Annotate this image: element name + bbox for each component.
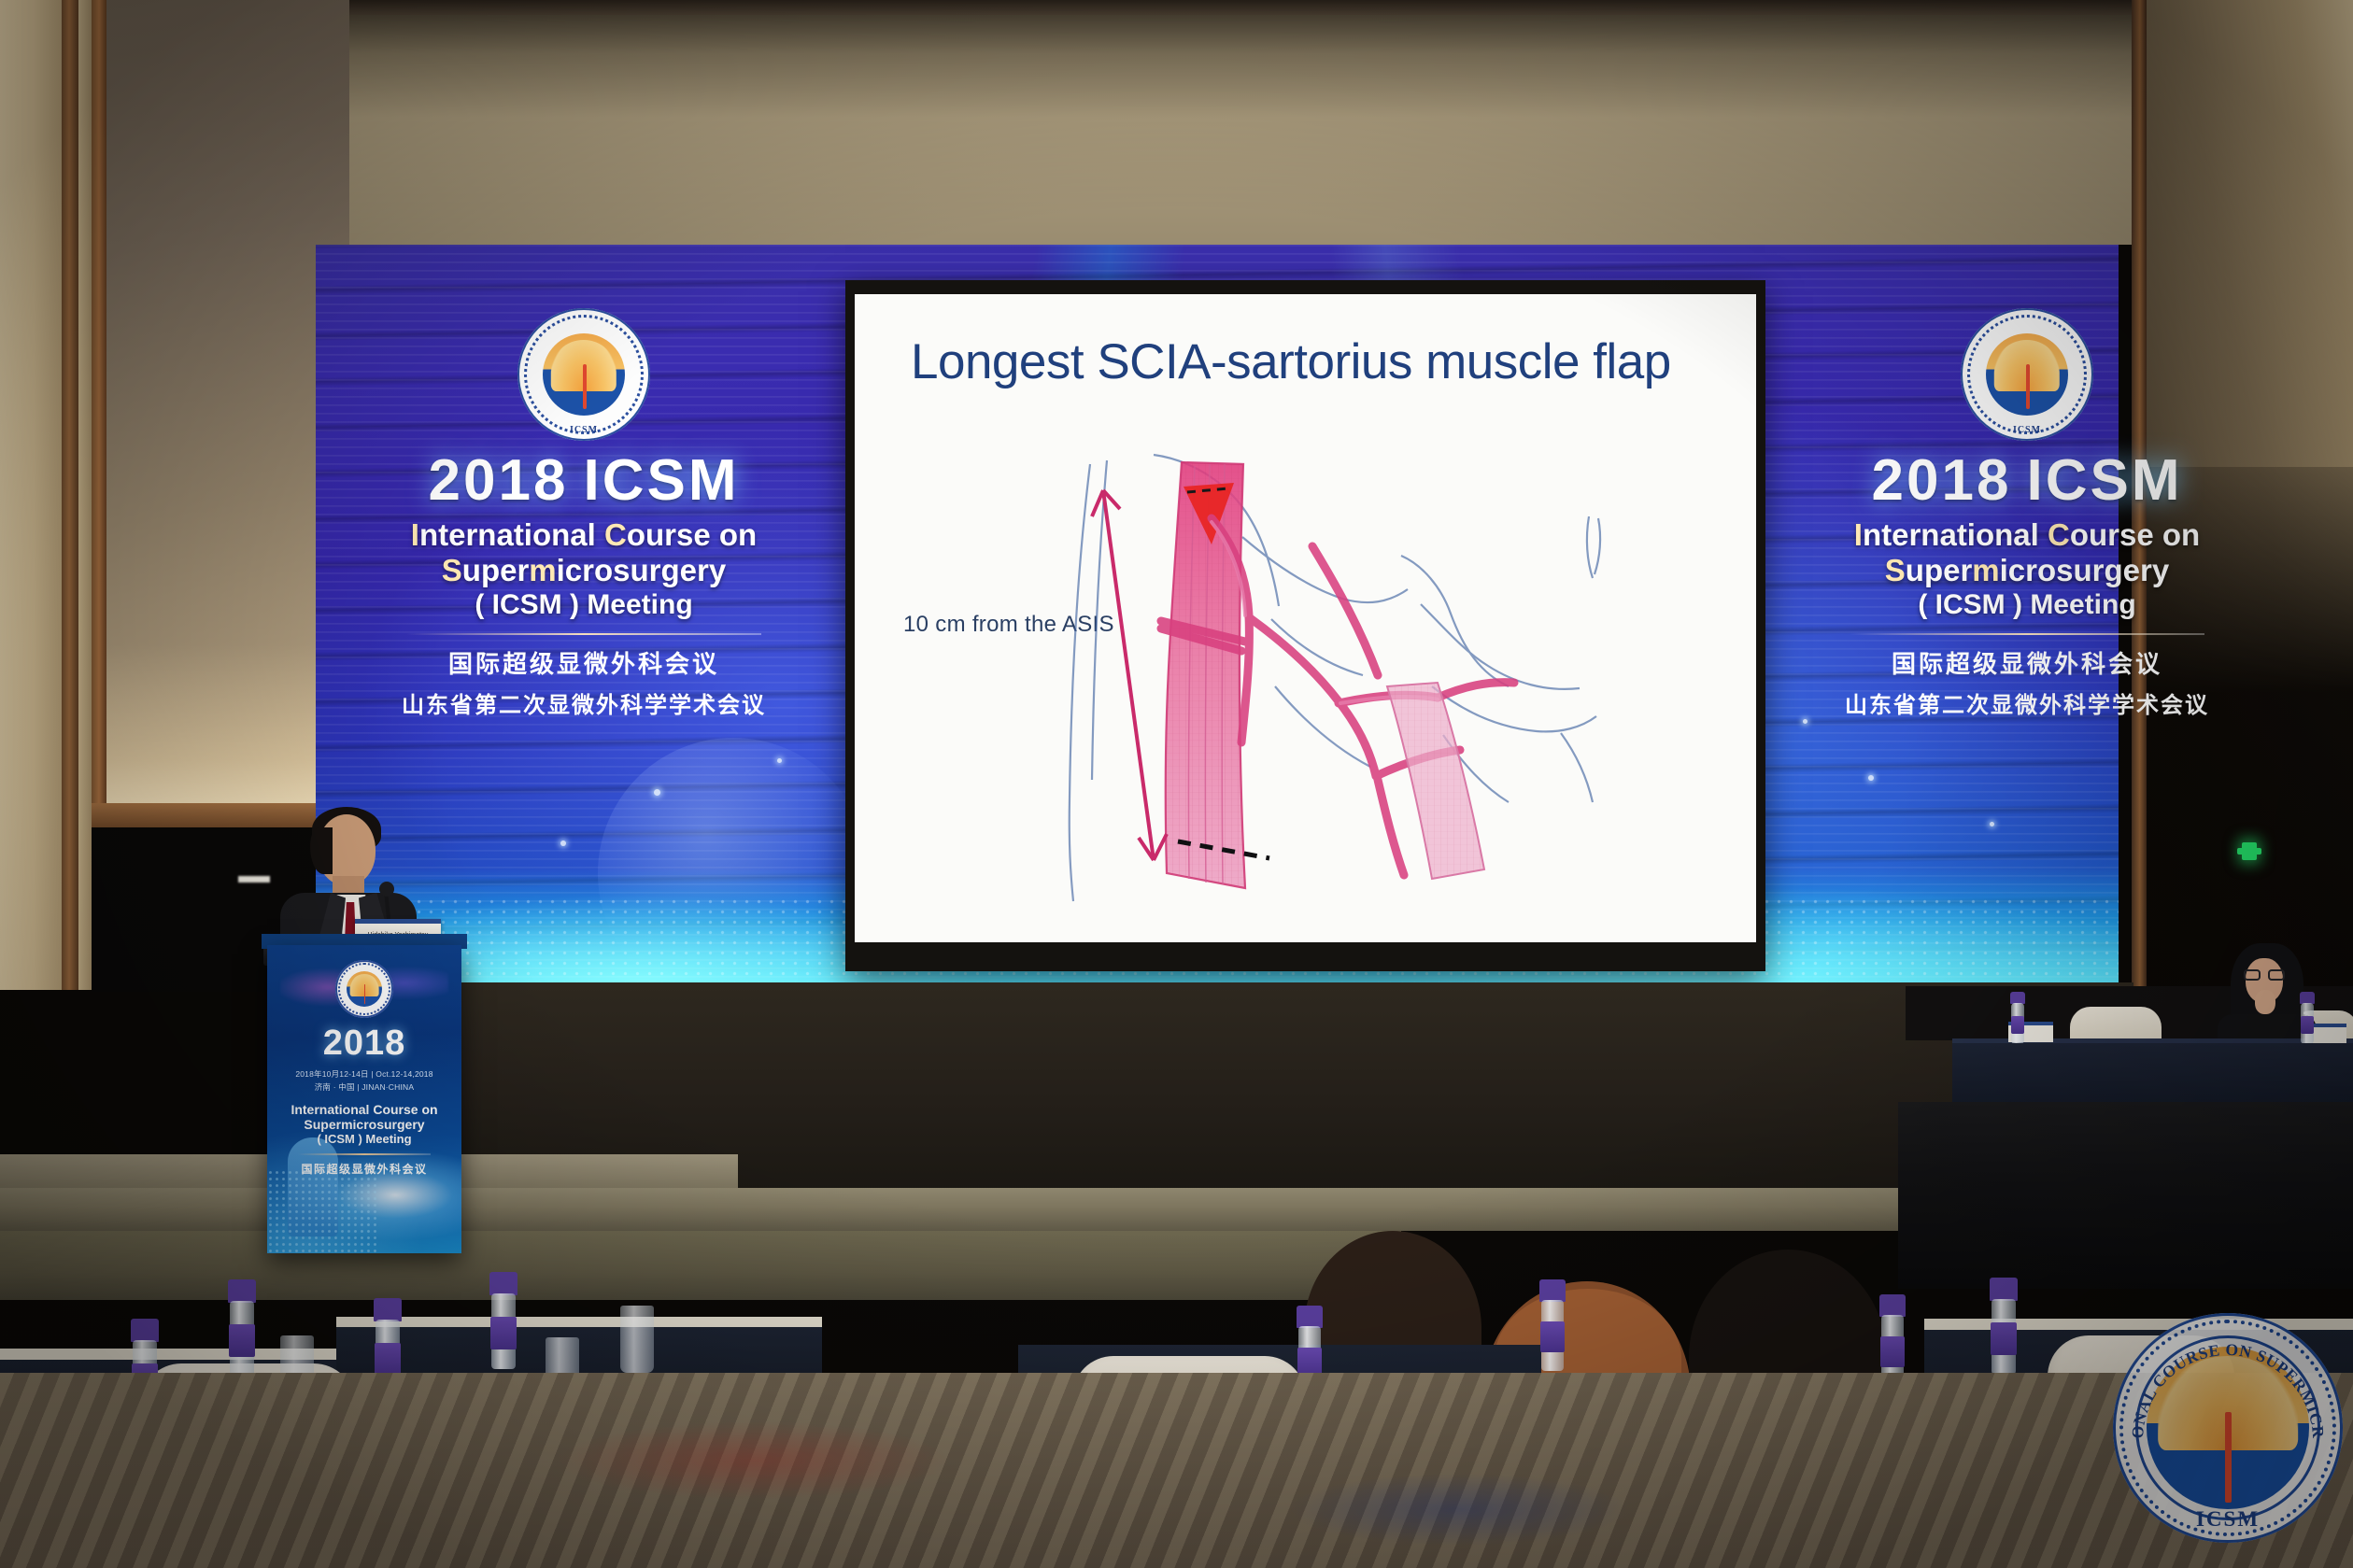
left-banner-year-acronym: 2018ICSM [332, 452, 836, 510]
left-banner-line3: ( ICSM ) Meeting [332, 589, 836, 622]
led-sparkle [654, 789, 660, 796]
slide-title: Longest SCIA-sartorius muscle flap [911, 333, 1714, 390]
svg-text:INTERNATIONAL COURSE ON SUPERM: INTERNATIONAL COURSE ON SUPERMICROSURGER… [2113, 1313, 2328, 1439]
podium-year: 2018 [267, 1024, 461, 1064]
left-banner-line2: Supermicrosurgery [332, 553, 836, 588]
podium-divider [298, 1153, 431, 1155]
flap-length-arrow [1092, 490, 1167, 860]
icsm-seal-icon: ICSM [517, 308, 650, 441]
led-sparkle [560, 841, 566, 846]
water-bottle [1539, 1279, 1566, 1371]
watermark-bottom-text: ICSM [2113, 1507, 2343, 1532]
led-sparkle [1990, 822, 1994, 826]
right-banner-chinese1: 国际超级显微外科会议 [1775, 645, 2279, 680]
podium-place-line: 济南 · 中国 | JINAN·CHINA [267, 1081, 461, 1093]
left-wall-panel [0, 0, 62, 990]
icsm-watermark-logo: INTERNATIONAL COURSE ON SUPERMICROSURGER… [2113, 1313, 2343, 1543]
ceiling-strip [0, 0, 2353, 15]
left-banner-logo-wrap: ICSM [332, 308, 836, 441]
led-sparkle [1868, 775, 1874, 781]
emergency-exit-icon [2242, 842, 2257, 860]
right-banner-year-acronym: 2018ICSM [1775, 452, 2279, 510]
sartorius-flap-illustration [1042, 406, 1621, 929]
podium-date-line: 2018年10月12-14日 | Oct.12-14,2018 [267, 1068, 461, 1080]
right-banner-line3: ( ICSM ) Meeting [1775, 589, 2279, 622]
water-bottle [2010, 992, 2025, 1044]
glasses-icon [2244, 969, 2285, 981]
left-wall-led-light [238, 876, 270, 883]
carpet-floor [0, 1373, 2353, 1568]
banner-acronym-text: ICSM [2026, 448, 2182, 513]
stage-step [0, 1231, 1401, 1300]
drinking-glass [620, 1306, 654, 1373]
water-bottle [489, 1272, 517, 1369]
led-sparkle [1803, 719, 1807, 724]
left-wall-uplight-glow [106, 644, 349, 805]
panelist-hand [2255, 990, 2275, 1014]
banner-acronym-text: ICSM [583, 448, 739, 513]
seal-bottom-text: ICSM [1961, 425, 2093, 435]
left-backdrop-banner: ICSM 2018ICSM International Course on Su… [332, 308, 836, 719]
water-bottle [228, 1279, 256, 1377]
left-banner-chinese1: 国际超级显微外科会议 [332, 645, 836, 680]
podium-sign-content: 2018 2018年10月12-14日 | Oct.12-14,2018 济南 … [267, 945, 461, 1253]
presentation-slide: Longest SCIA-sartorius muscle flap 10 cm… [855, 294, 1756, 942]
left-banner-chinese2: 山东省第二次显微外科学学术会议 [332, 686, 836, 719]
conference-photo-scene: ICSM 2018ICSM International Course on Su… [0, 0, 2353, 1568]
right-banner-divider [1850, 633, 2204, 635]
podium-line2: Supermicrosurgery [267, 1117, 461, 1132]
left-wall-wood-trim [62, 0, 78, 990]
left-banner-line1: International Course on [332, 517, 836, 553]
back-wall-shading [0, 0, 2353, 245]
right-banner-logo-wrap: ICSM [1775, 308, 2279, 441]
left-banner-divider [406, 633, 761, 635]
left-wall-trim-light [78, 0, 92, 990]
right-banner-line2: Supermicrosurgery [1775, 553, 2279, 588]
water-bottle [1990, 1278, 2018, 1375]
banner-year-text: 2018 [429, 448, 569, 513]
banquet-table-top [336, 1317, 822, 1327]
icsm-seal-icon: ICSM [1961, 308, 2093, 441]
left-wall-sill [92, 803, 349, 827]
seal-bottom-text: ICSM [517, 425, 650, 435]
panel-stage-platform [1898, 1102, 2353, 1289]
podium-line3: ( ICSM ) Meeting [267, 1132, 461, 1146]
led-sparkle [777, 758, 782, 763]
icsm-seal-icon [335, 960, 393, 1018]
podium-chinese: 国际超级显微外科会议 [267, 1161, 461, 1177]
right-backdrop-banner: ICSM 2018ICSM International Course on Su… [1775, 308, 2279, 719]
banner-year-text: 2018 [1872, 448, 2012, 513]
podium-line1: International Course on [267, 1102, 461, 1117]
water-bottle [2300, 992, 2315, 1044]
left-wall-frame [92, 0, 106, 803]
right-banner-line1: International Course on [1775, 517, 2279, 553]
right-banner-chinese2: 山东省第二次显微外科学学术会议 [1775, 686, 2279, 719]
microphone-head-icon [379, 882, 394, 897]
